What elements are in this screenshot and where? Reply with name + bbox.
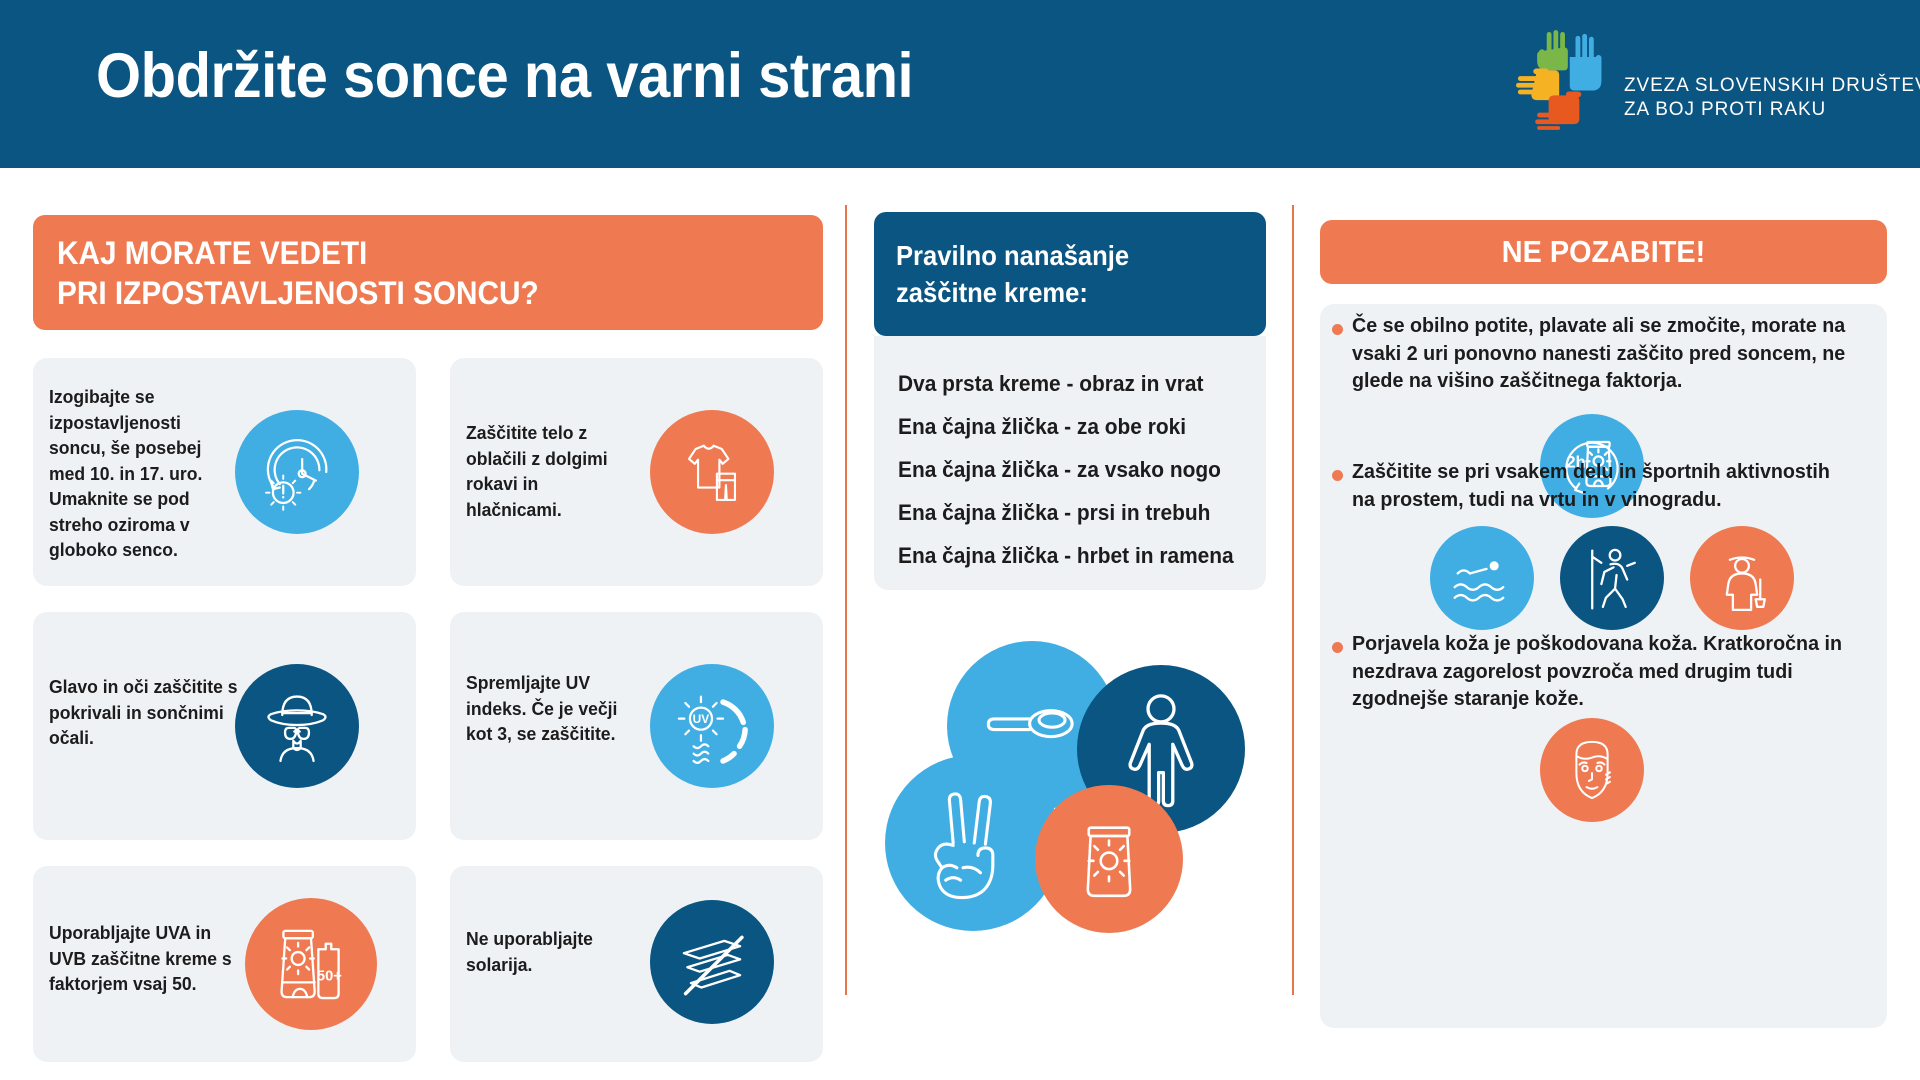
left-card-4-text: Spremljajte UV indeks. Če je večji kot 3… bbox=[466, 670, 643, 747]
clock-sun-icon bbox=[235, 410, 359, 534]
bullet-dot-2 bbox=[1332, 470, 1343, 481]
middle-heading-line-2: zaščitne kreme: bbox=[896, 274, 1240, 311]
sunscreen-spf-icon: 50+ bbox=[245, 898, 377, 1030]
right-bullets-panel: Če se obilno potite, plavate ali se zmoč… bbox=[1320, 304, 1887, 1028]
page-header: Obdržite sonce na varni strani bbox=[0, 0, 1920, 168]
no-solarium-icon bbox=[650, 900, 774, 1024]
right-bullet-2-text: Zaščitite se pri vsakem delu in športnih… bbox=[1352, 458, 1855, 513]
middle-illustration-cluster bbox=[885, 625, 1245, 955]
logo-line-2: ZA BOJ PROTI RAKU bbox=[1624, 98, 1920, 122]
left-card-3: Glavo in oči zaščitite s pokrivali in so… bbox=[33, 612, 416, 840]
zveza-logo: ZVEZA SLOVENSKIH DRUŠTEV ZA BOJ PROTI RA… bbox=[1516, 28, 1864, 136]
middle-list-item-5: Ena čajna žlička - hrbet in ramena bbox=[898, 543, 1234, 569]
left-card-6: Ne uporabljajte solarija. bbox=[450, 866, 823, 1062]
left-column-heading: KAJ MORATE VEDETI PRI IZPOSTAVLJENOSTI S… bbox=[33, 215, 823, 330]
left-heading-line-1: KAJ MORATE VEDETI bbox=[57, 233, 769, 273]
right-column-heading: NE POZABITE! bbox=[1320, 220, 1887, 284]
left-card-2-text: Zaščitite telo z oblačili z dolgimi roka… bbox=[466, 420, 632, 522]
page-title: Obdržite sonce na varni strani bbox=[96, 40, 913, 112]
left-heading-line-2: PRI IZPOSTAVLJENOSTI SONCU? bbox=[57, 273, 769, 313]
right-heading-label: NE POZABITE! bbox=[1340, 232, 1867, 272]
middle-list-item-1: Dva prsta kreme - obraz in vrat bbox=[898, 371, 1203, 397]
sunscreen-tube-icon bbox=[1035, 785, 1183, 933]
middle-heading-line-1: Pravilno nanašanje bbox=[896, 237, 1240, 274]
logo-line-1: ZVEZA SLOVENSKIH DRUŠTEV bbox=[1624, 74, 1920, 98]
right-bullet-1-text: Če se obilno potite, plavate ali se zmoč… bbox=[1352, 312, 1855, 395]
bullet-dot-3 bbox=[1332, 642, 1343, 653]
left-card-6-text: Ne uporabljajte solarija. bbox=[466, 926, 632, 977]
logo-text-block: ZVEZA SLOVENSKIH DRUŠTEV ZA BOJ PROTI RA… bbox=[1624, 74, 1920, 122]
left-card-3-text: Glavo in oči zaščitite s pokrivali in so… bbox=[49, 674, 239, 751]
middle-list-item-4: Ena čajna žlička - prsi in trebuh bbox=[898, 500, 1210, 526]
four-hands-logo-icon bbox=[1516, 30, 1612, 130]
left-card-2: Zaščitite telo z oblačili z dolgimi roka… bbox=[450, 358, 823, 586]
divider-left-middle bbox=[845, 205, 847, 995]
bullet-dot-1 bbox=[1332, 324, 1343, 335]
divider-middle-right bbox=[1292, 205, 1294, 995]
left-card-4: Spremljajte UV indeks. Če je večji kot 3… bbox=[450, 612, 823, 840]
svg-text:UV: UV bbox=[693, 712, 710, 726]
clothing-icon bbox=[650, 410, 774, 534]
left-card-1: Izogibajte se izpostavljenosti soncu, še… bbox=[33, 358, 416, 586]
left-card-5: Uporabljajte UVA in UVB zaščitne kreme s… bbox=[33, 866, 416, 1062]
right-bullet-3-text: Porjavela koža je poškodovana koža. Krat… bbox=[1352, 630, 1855, 713]
middle-list-item-2: Ena čajna žlička - za obe roki bbox=[898, 414, 1186, 440]
aging-skin-face-icon bbox=[1540, 718, 1644, 822]
swimming-icon bbox=[1430, 526, 1534, 630]
gardening-icon bbox=[1690, 526, 1794, 630]
left-card-1-text: Izogibajte se izpostavljenosti soncu, še… bbox=[49, 384, 222, 563]
two-fingers-hand-icon bbox=[885, 755, 1061, 931]
left-card-5-text: Uporabljajte UVA in UVB zaščitne kreme s… bbox=[49, 920, 247, 997]
middle-column-heading: Pravilno nanašanje zaščitne kreme: bbox=[874, 212, 1266, 336]
middle-list-panel: Dva prsta kreme - obraz in vrat Ena čajn… bbox=[874, 336, 1266, 590]
infographic-page: Obdržite sonce na varni strani bbox=[0, 0, 1920, 1080]
hiking-icon bbox=[1560, 526, 1664, 630]
uv-index-icon: UV bbox=[650, 664, 774, 788]
svg-text:50+: 50+ bbox=[317, 969, 342, 985]
middle-list-item-3: Ena čajna žlička - za vsako nogo bbox=[898, 457, 1221, 483]
hat-sunglasses-icon bbox=[235, 664, 359, 788]
